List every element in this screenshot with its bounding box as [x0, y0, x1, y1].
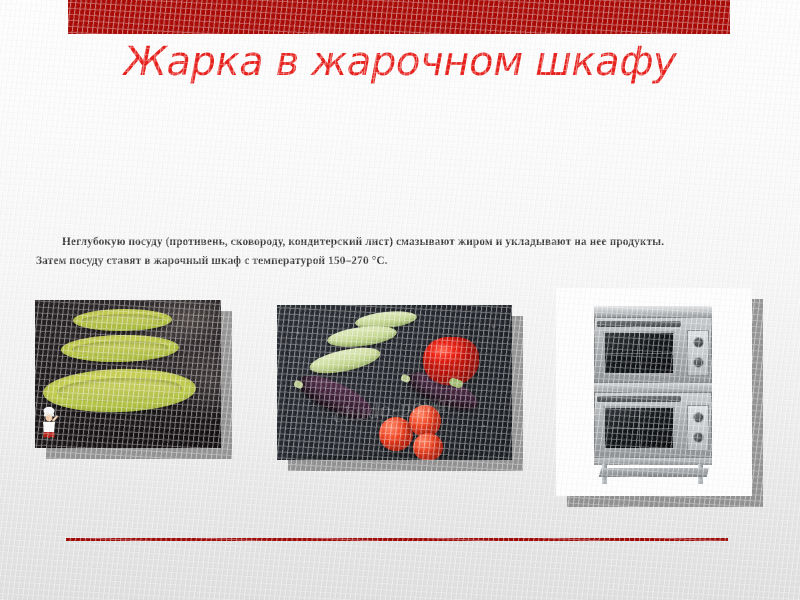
chef-figurine-watermark-icon: [40, 406, 58, 442]
header-accent-bar: [68, 0, 730, 34]
oven-control-panel: [687, 330, 709, 376]
oven-door-handle: [597, 396, 681, 402]
slide-canvas: Жарка в жарочном шкафу Неглубокую посуду…: [0, 0, 800, 600]
body-paragraph-2: Затем посуду ставят в жарочный шкаф с те…: [36, 252, 770, 271]
oven-door-handle: [597, 321, 681, 327]
oven-base-plate: [594, 458, 712, 465]
oven-deck-upper: [594, 317, 712, 383]
oven-control-panel: [687, 405, 709, 451]
oven-body: [586, 306, 724, 484]
oven-knob: [693, 412, 704, 423]
oven-bottom-shelf: [599, 468, 710, 477]
image-vegetables-on-parchment: сhudo-povar: [277, 305, 512, 460]
tomato: [413, 433, 443, 460]
oven-knob: [693, 357, 704, 368]
oven-knob: [693, 337, 704, 348]
footer-divider: [66, 538, 728, 541]
body-text-block: Неглубокую посуду (противень, сковороду,…: [36, 233, 770, 271]
oven-door-window: [603, 331, 675, 375]
oven-door-window: [603, 406, 675, 450]
image-commercial-double-deck-oven: [556, 288, 752, 496]
oven-divider: [594, 383, 712, 392]
oven-knob: [693, 432, 704, 443]
oven-deck-lower: [594, 392, 712, 458]
page-title: Жарка в жарочном шкафу: [68, 36, 732, 88]
body-paragraph-1: Неглубокую посуду (противень, сковороду,…: [36, 233, 770, 252]
image-baked-pepper-halves: [35, 300, 221, 448]
